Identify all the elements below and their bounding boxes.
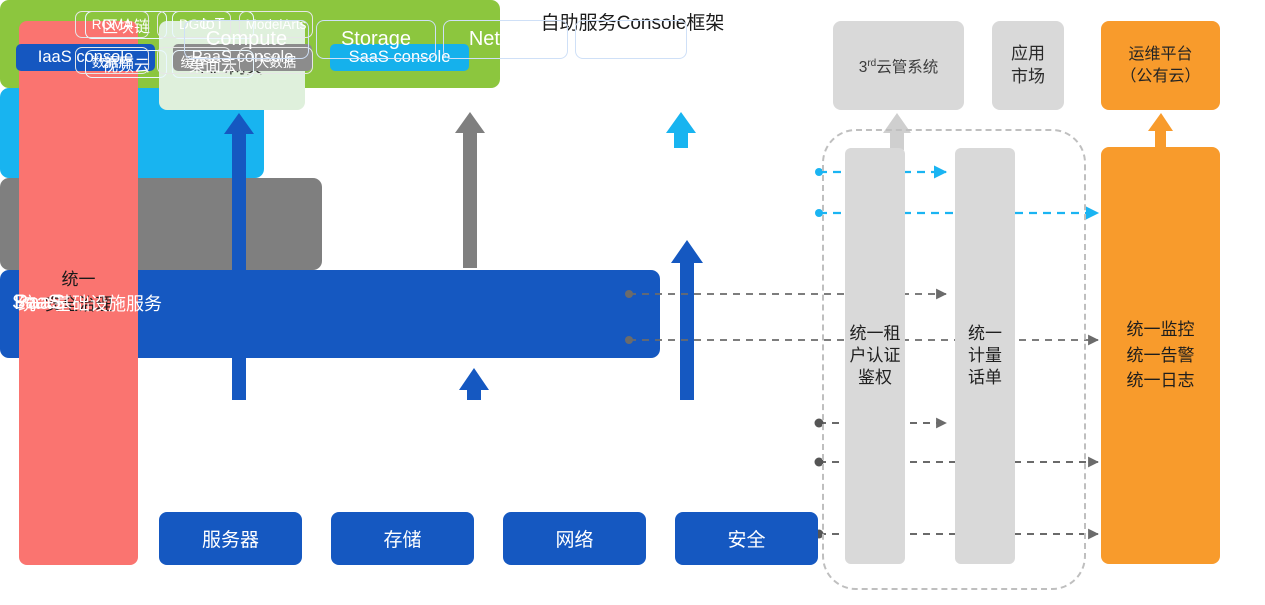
bottom-box-server[interactable]: 服务器: [159, 512, 302, 565]
ops-platform-public-cloud-box[interactable]: 运维平台 （公有云）: [1101, 21, 1220, 110]
ops-column-line-0: 统一监控: [1127, 317, 1195, 343]
bottom-box-network[interactable]: 网络: [503, 512, 646, 565]
gray-column-unified-auth[interactable]: 统一租 户认证 鉴权: [845, 148, 905, 564]
ops-column-line-1: 统一告警: [1127, 343, 1195, 369]
arrow-saas-to-console: [666, 112, 696, 148]
paas-chip-roma[interactable]: ROMA: [75, 11, 149, 38]
app-market-box[interactable]: 应用 市场: [992, 21, 1064, 110]
infra-chip-compute[interactable]: Compute: [184, 20, 309, 59]
unified-monitoring-column[interactable]: 统一监控 统一告警 统一日志: [1101, 147, 1220, 564]
third-cloud-label: 3rd云管系统: [859, 55, 939, 77]
app-market-line-2: 市场: [1011, 66, 1045, 88]
bottom-box-storage[interactable]: 存储: [331, 512, 474, 565]
infra-chip-storage[interactable]: Storage: [316, 20, 436, 59]
gray-col-1-line-0: 统一: [968, 323, 1002, 345]
ops-column-line-2: 统一日志: [1127, 368, 1195, 394]
third-cloud-suffix: 云管系统: [876, 59, 938, 76]
gray-column-unified-metering[interactable]: 统一 计量 话单: [955, 148, 1015, 564]
ops-platform-line-2: （公有云）: [1120, 66, 1200, 88]
gray-col-1-line-1: 计量: [968, 345, 1002, 367]
arrow-paas-to-console: [455, 112, 485, 268]
arrow-infra-to-saas: [671, 240, 703, 400]
bottom-box-security[interactable]: 安全: [675, 512, 818, 565]
infra-bar-label: 统一基础设施服务: [18, 290, 162, 316]
gray-col-1-line-2: 话单: [968, 367, 1002, 389]
ops-platform-line-1: 运维平台: [1120, 44, 1200, 66]
architecture-diagram: 统一租 户认证 鉴权 统一 计量 话单 统一 安全治理 API网关 自助服务Co…: [0, 0, 1265, 605]
third-party-cloud-management-box[interactable]: 3rd云管系统: [833, 21, 964, 110]
infra-chip-cce[interactable]: CCE: [575, 20, 687, 59]
gray-col-0-line-0: 统一租: [850, 323, 901, 345]
arrow-infra-to-paas: [459, 368, 489, 400]
third-cloud-sup: rd: [867, 57, 876, 68]
paas-chip-database[interactable]: 数据库: [75, 47, 149, 74]
gray-col-0-line-2: 鉴权: [850, 367, 901, 389]
app-market-line-1: 应用: [1011, 43, 1045, 65]
infra-chip-network[interactable]: Network: [443, 20, 568, 59]
arrow-to-ops-platform: [1148, 113, 1173, 147]
gray-col-0-line-1: 户认证: [850, 345, 901, 367]
